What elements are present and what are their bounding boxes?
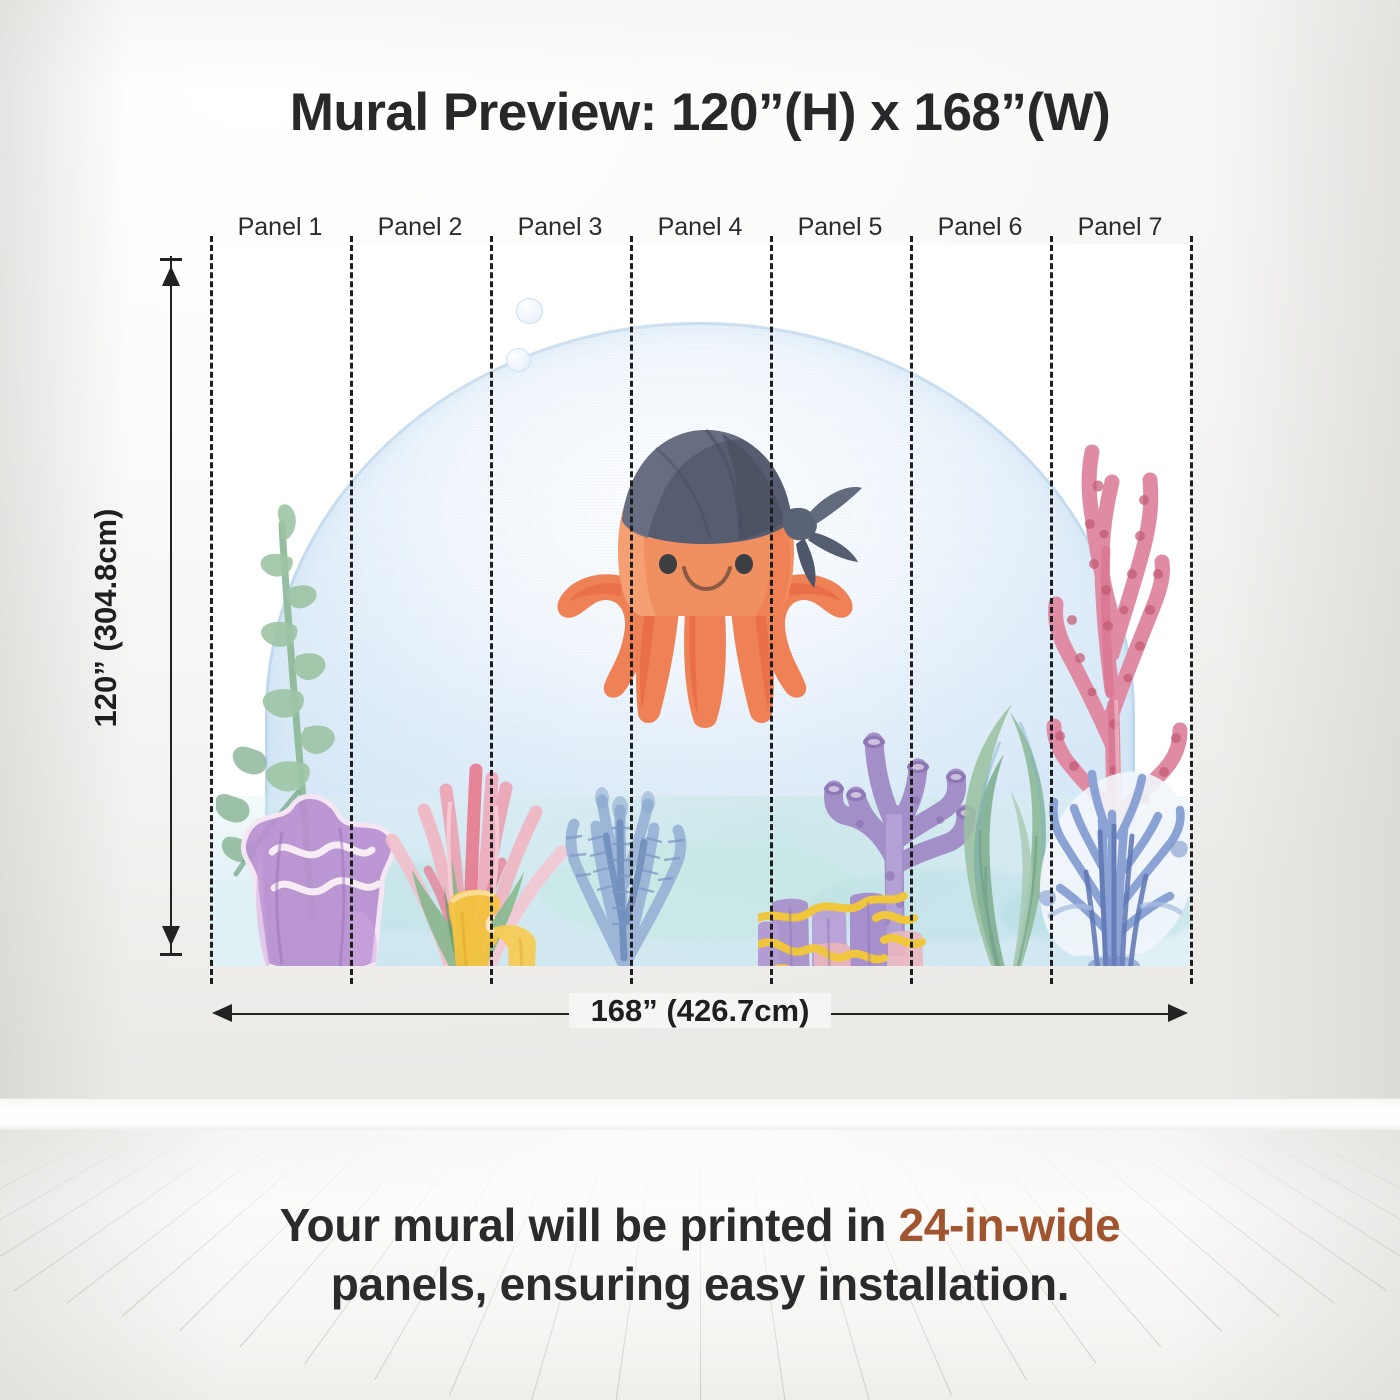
baseboard	[0, 1098, 1400, 1132]
panel-divider-1	[350, 236, 353, 984]
panel-divider-7	[1190, 236, 1193, 984]
vertical-dimension-line	[170, 256, 172, 956]
width-label: 168” (426.7cm)	[0, 993, 1400, 1029]
panel-label-3: Panel 3	[490, 210, 630, 244]
caption-line-1-prefix: Your mural will be printed in	[280, 1199, 899, 1251]
pirate-octopus-art	[536, 408, 876, 728]
panel-label-6: Panel 6	[910, 210, 1050, 244]
panel-divider-2	[490, 236, 493, 984]
panel-label-2: Panel 2	[350, 210, 490, 244]
blue-tube-coral-art	[540, 718, 710, 966]
blue-branching-coral-art	[1020, 716, 1190, 966]
yellow-sponge-art	[438, 882, 548, 966]
panel-divider-6	[1050, 236, 1053, 984]
caption-line-1: Your mural will be printed in 24-in-wide	[0, 1196, 1400, 1255]
panel-label-7: Panel 7	[1050, 210, 1190, 244]
wall-top-shading	[0, 0, 1400, 90]
height-label: 120” (304.8cm)	[88, 418, 124, 818]
mural-artwork	[210, 244, 1190, 966]
panel-divider-4	[770, 236, 773, 984]
panel-divider-3	[630, 236, 633, 984]
caption-line-2: panels, ensuring easy installation.	[0, 1255, 1400, 1314]
arrow-up-icon	[162, 266, 180, 286]
installation-caption: Your mural will be printed in 24-in-wide…	[0, 1196, 1400, 1314]
page-title: Mural Preview: 120”(H) x 168”(W)	[0, 82, 1400, 143]
caption-accent-text: 24-in-wide	[898, 1199, 1120, 1251]
bubble-icon	[516, 298, 543, 324]
mural-preview-screenshot: Mural Preview: 120”(H) x 168”(W) Panel 1…	[0, 0, 1400, 1400]
arrow-down-icon	[162, 926, 180, 946]
panel-divider-0	[210, 236, 213, 984]
panel-label-strip: Panel 1Panel 2Panel 3Panel 4Panel 5Panel…	[210, 210, 1190, 244]
panel-label-5: Panel 5	[770, 210, 910, 244]
wall-right-shading	[1220, 0, 1400, 1104]
bubble-icon	[506, 348, 531, 372]
width-label-text: 168” (426.7cm)	[569, 993, 832, 1028]
panel-divider-5	[910, 236, 913, 984]
panel-label-1: Panel 1	[210, 210, 350, 244]
panel-label-4: Panel 4	[630, 210, 770, 244]
vertical-dimension-cap-bottom	[160, 953, 182, 956]
